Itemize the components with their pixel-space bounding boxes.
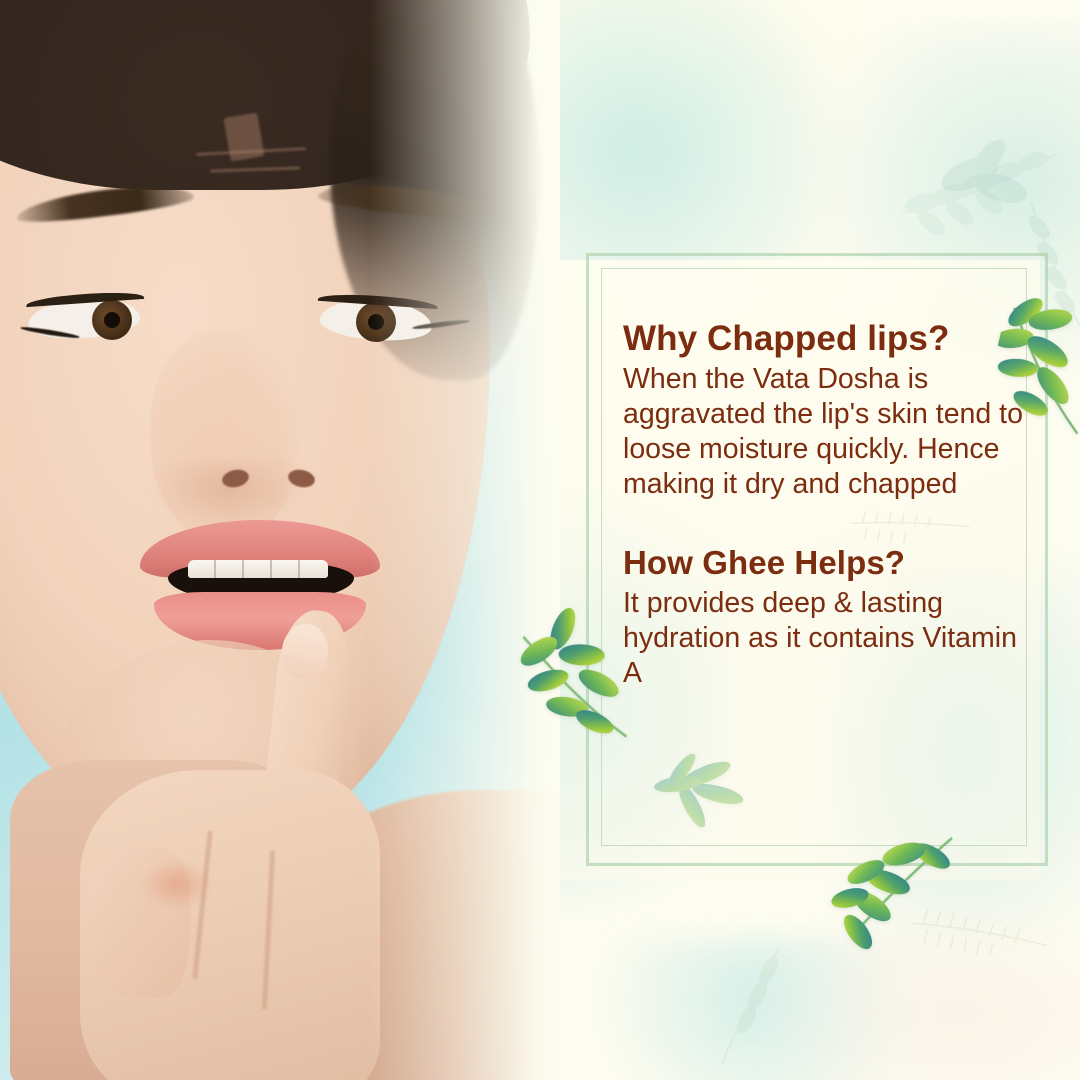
leaf-sprig-left — [505, 602, 639, 754]
teeth — [188, 560, 328, 578]
leaf-star-bottom — [648, 752, 758, 842]
forehead-crease-3 — [223, 112, 264, 161]
pupil-left — [104, 312, 120, 328]
section-body-2: It provides deep & lasting hydration as … — [623, 586, 1023, 691]
photo-edge-fade — [370, 0, 560, 1080]
infographic-canvas: Why Chapped lips? When the Vata Dosha is… — [0, 0, 1080, 1080]
knuckle-highlight — [142, 860, 212, 908]
text-panel: Why Chapped lips? When the Vata Dosha is… — [623, 318, 1023, 691]
section-heading-2: How Ghee Helps? — [623, 542, 1023, 584]
section-heading-1: Why Chapped lips? — [623, 318, 1023, 360]
section-body-1: When the Vata Dosha is aggravated the li… — [623, 362, 1023, 502]
hero-photo — [0, 0, 560, 1080]
section-spacer — [623, 502, 1023, 542]
leaf-sprig-bottom-right — [828, 832, 958, 957]
hand — [80, 620, 400, 1080]
